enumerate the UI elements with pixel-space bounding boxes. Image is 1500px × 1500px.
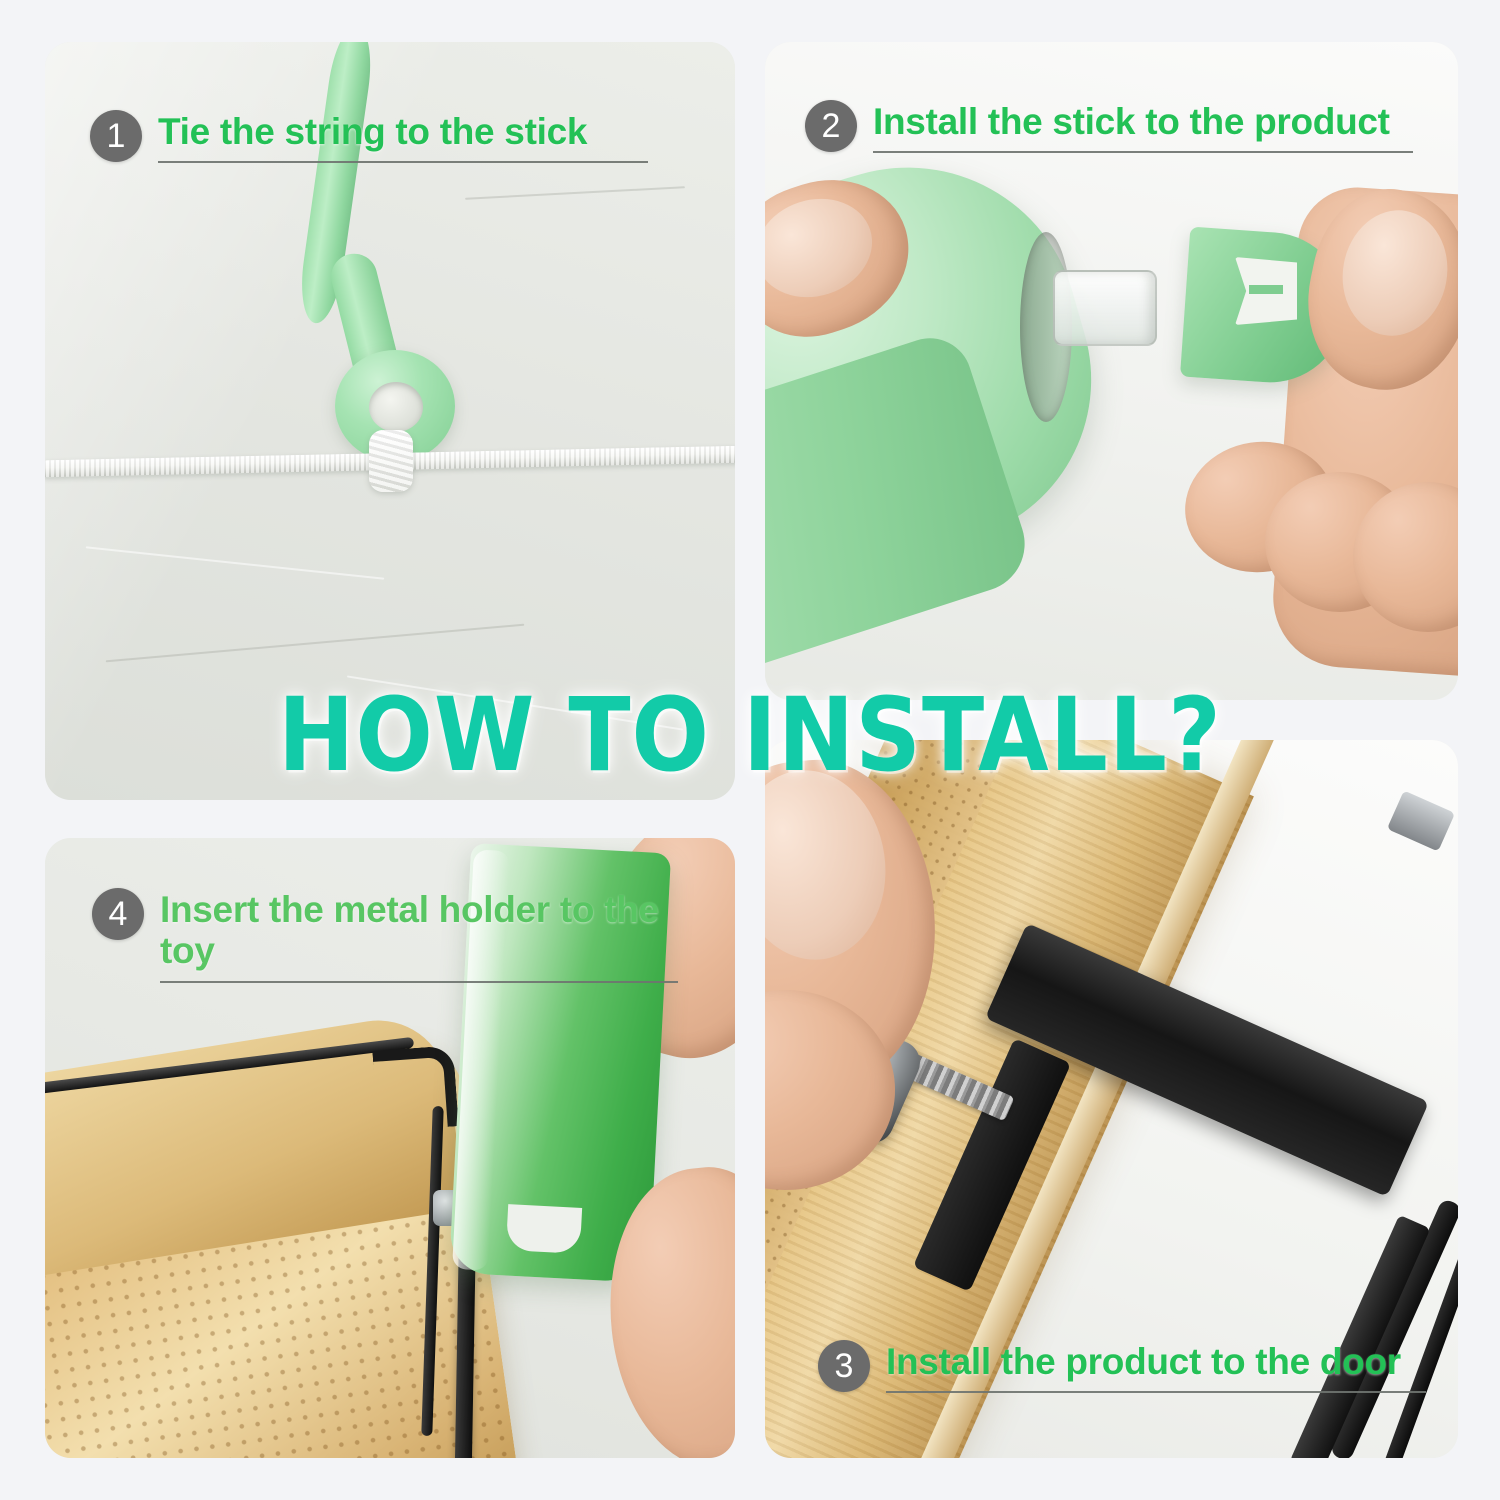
step-2-text-block: Install the stick to the product	[873, 100, 1413, 153]
step-2-badge: 2	[805, 100, 857, 152]
step-1-caption: Tie the string to the stick	[158, 111, 648, 152]
step-4-badge: 4	[92, 888, 144, 940]
clear-plastic-connector	[1053, 270, 1157, 346]
step-3-label: 3 Install the product to the door	[818, 1340, 1426, 1393]
step-1-label: 1 Tie the string to the stick	[90, 110, 648, 163]
step-2-label: 2 Install the stick to the product	[805, 100, 1413, 153]
wire-holder-corner	[372, 1045, 458, 1131]
step-4-text-block: Insert the metal holder to the toy	[160, 888, 678, 983]
string-knot	[369, 430, 413, 492]
step-4-label: 4 Insert the metal holder to the toy	[92, 888, 678, 983]
step-2-caption: Install the stick to the product	[873, 101, 1413, 142]
infographic-board: 1 Tie the string to the stick 2 Install …	[0, 0, 1500, 1500]
step-3-badge: 3	[818, 1340, 870, 1392]
stick-eyelet-hole	[369, 382, 423, 432]
step-4-underline	[160, 981, 678, 983]
step-3-underline	[886, 1391, 1426, 1393]
toy-bottom-notch	[506, 1204, 582, 1254]
step-1-text-block: Tie the string to the stick	[158, 110, 648, 163]
step-1-badge: 1	[90, 110, 142, 162]
step-4-caption: Insert the metal holder to the toy	[160, 889, 660, 972]
headline-how-to-install: HOW TO INSTALL?	[0, 677, 1500, 795]
step-1-underline	[158, 161, 648, 163]
step-3-text-block: Install the product to the door	[886, 1340, 1426, 1393]
step-3-caption: Install the product to the door	[886, 1341, 1426, 1382]
step-2-underline	[873, 151, 1413, 153]
